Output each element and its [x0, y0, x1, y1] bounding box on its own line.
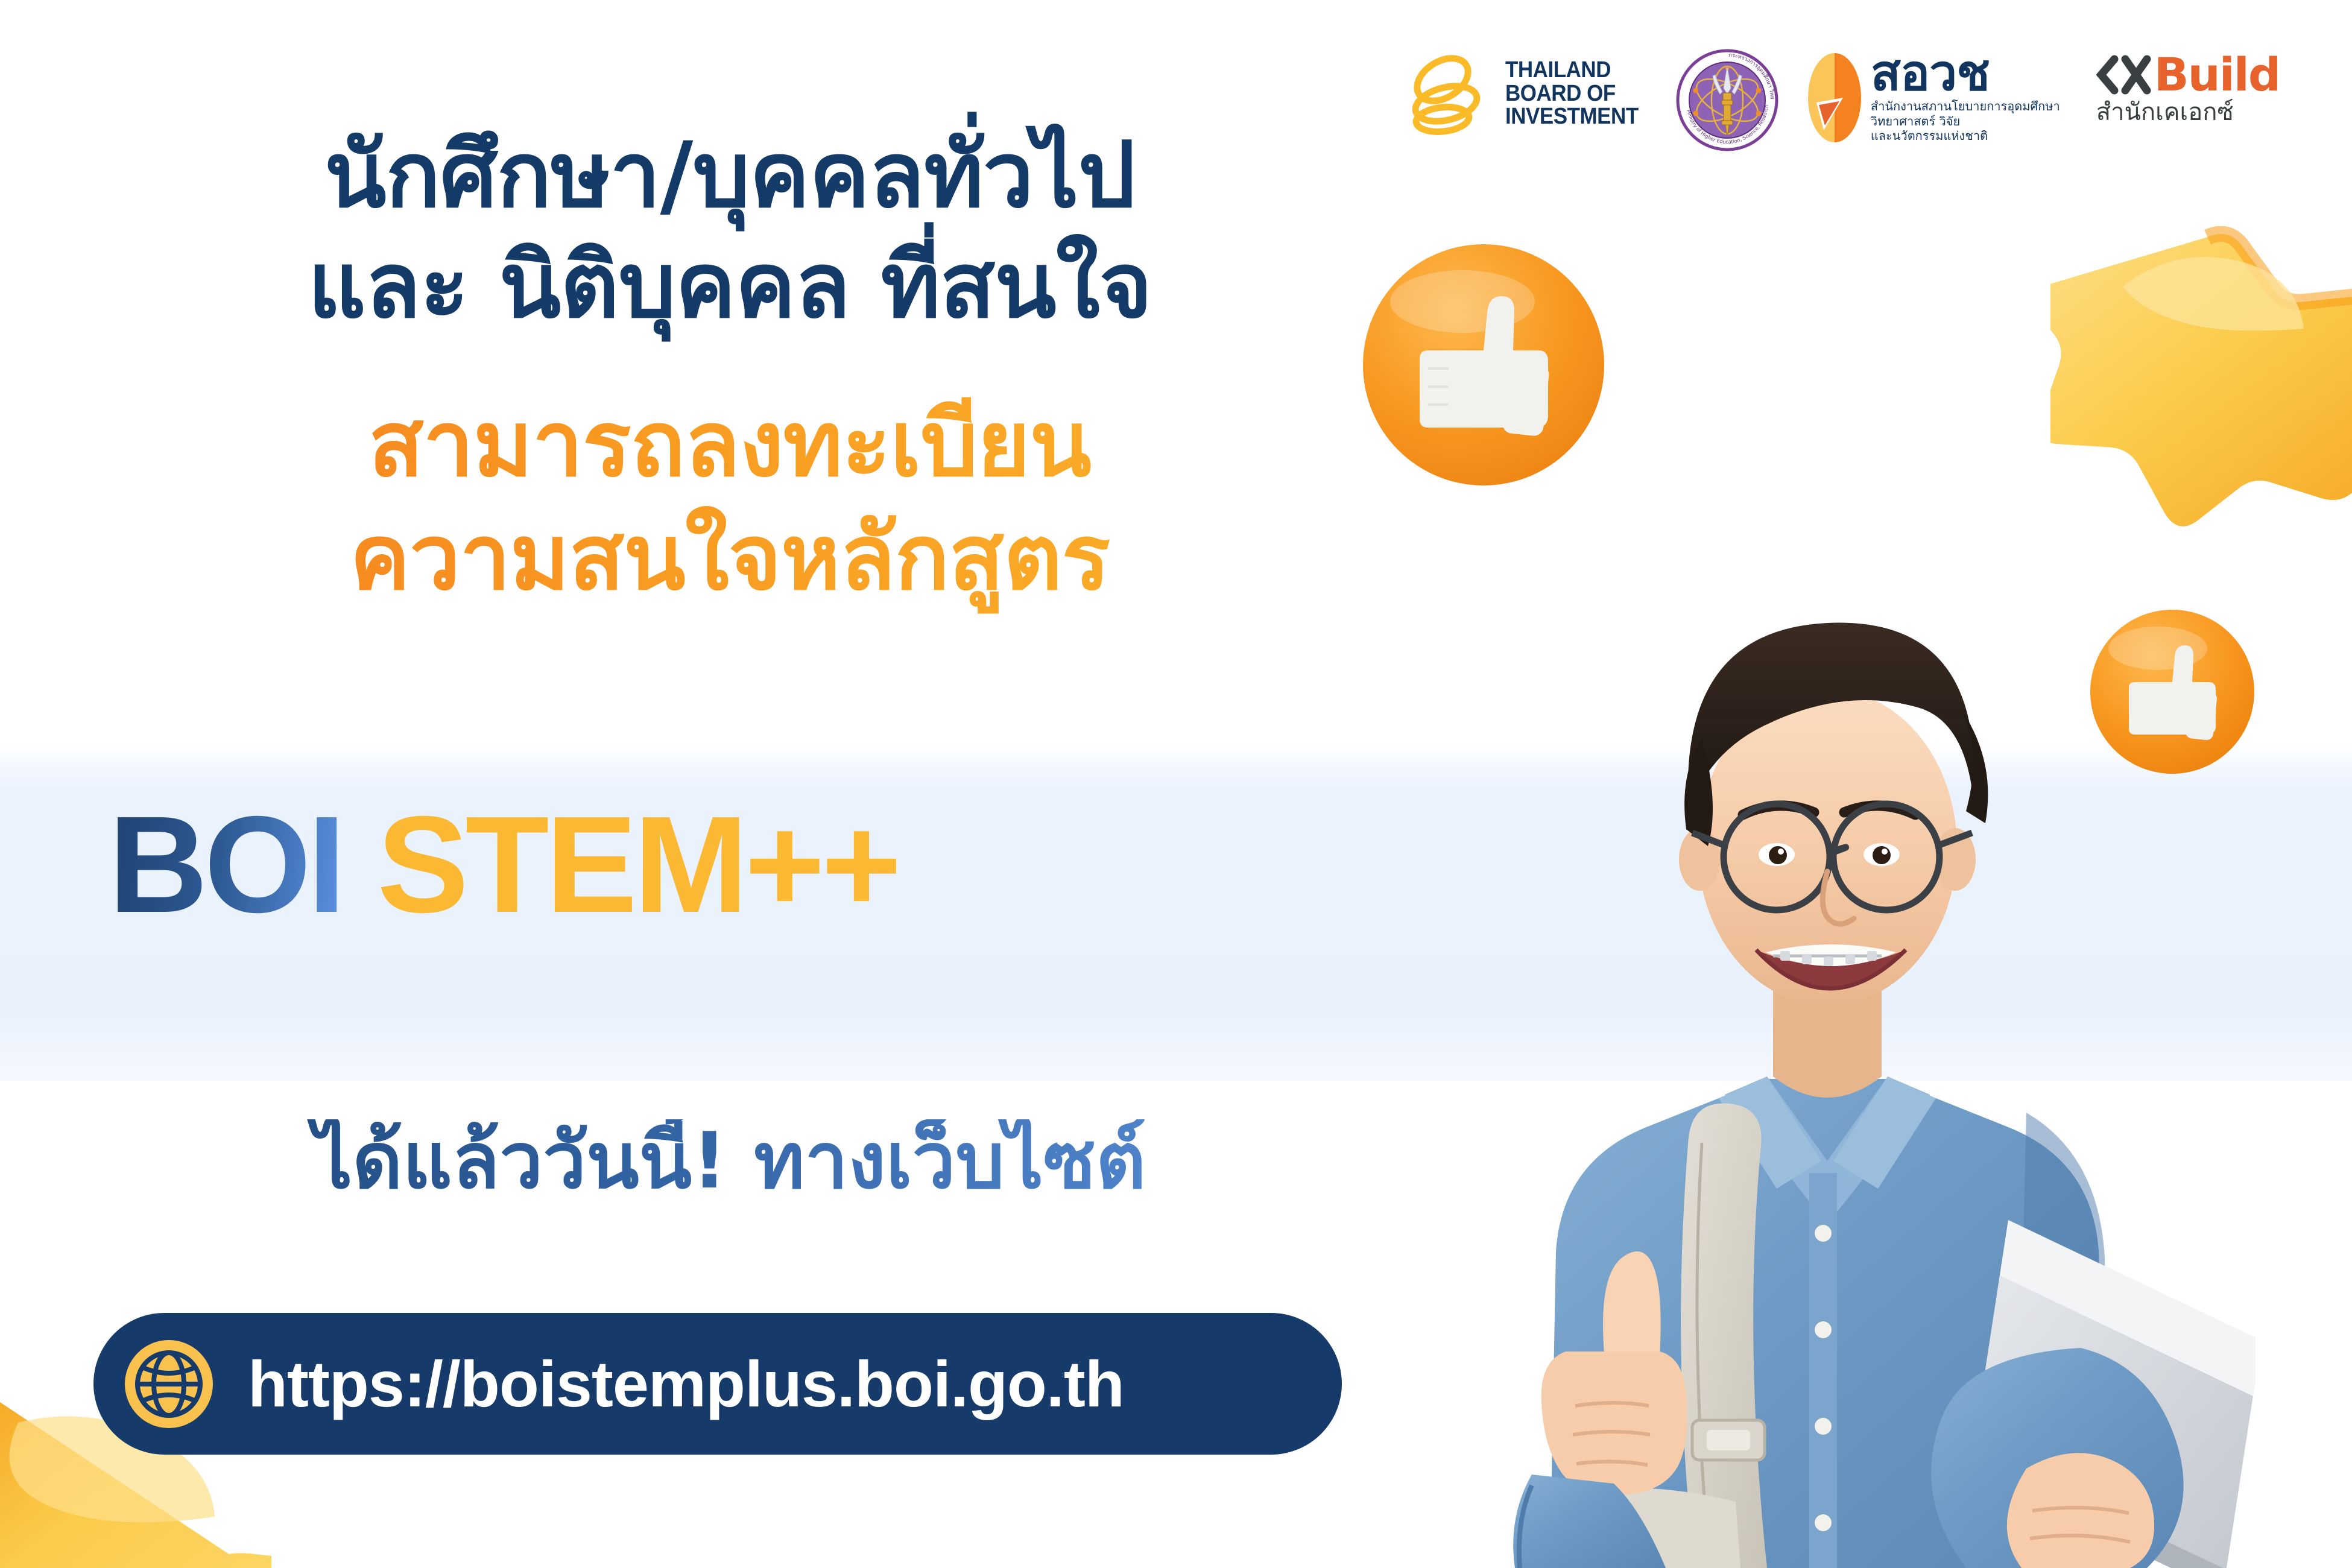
student-photo [1351, 389, 2256, 1568]
logo-mhesi: กระทรวงการอุดมศึกษา วิทยาศาสตร์ วิจัยและ… [1671, 48, 1779, 152]
boi-wordmark-line-2: BOARD OF [1505, 82, 1639, 106]
boi-wordmark-line-1: THAILAND [1505, 58, 1639, 82]
headline-line-4: ความสนใจหลักสูตร [72, 502, 1387, 615]
kx-build-wordmark: Build [2154, 57, 2280, 93]
boi-wordmark: THAILAND BOARD OF INVESTMENT [1505, 58, 1639, 128]
boi-loops-mark [1405, 48, 1496, 139]
nxpo-leaf-mark [1806, 52, 1864, 144]
website-url-text[interactable]: https://boistemplus.boi.go.th [248, 1346, 1124, 1421]
program-wordmark: BOISTEM++ [109, 796, 1435, 934]
nxpo-wordmark: สอวช [1871, 52, 2060, 95]
cta-text: ได้แล้ววันนี้! ทางเว็บไซต์ [72, 1119, 1387, 1204]
wordmark-boi: BOI [109, 796, 342, 934]
logo-strip: THAILAND BOARD OF INVESTMENT [1405, 48, 2322, 181]
wordmark-stem-plus-plus: STEM++ [377, 796, 898, 934]
headline-line-2: และ นิติบุคคล ที่สนใจ [72, 231, 1387, 341]
website-url-bar[interactable]: https://boistemplus.boi.go.th [93, 1313, 1342, 1455]
nxpo-subtitle-line-1: สำนักงานสภานโยบายการอุดมศึกษา [1871, 99, 2060, 113]
logo-thailand-board-of-investment: THAILAND BOARD OF INVESTMENT [1405, 48, 1650, 139]
kx-build-subtitle: สำนักเคเอกซ์ [2096, 100, 2234, 124]
headline-copy: นักศึกษา/บุคคลทั่วไป และ นิติบุคคล ที่สน… [72, 121, 1387, 615]
nxpo-subtitle: สำนักงานสภานโยบายการอุดมศึกษา วิทยาศาสตร… [1871, 99, 2060, 143]
boi-wordmark-line-3: INVESTMENT [1505, 105, 1639, 128]
globe-icon [124, 1339, 214, 1429]
logo-kx-build: Build สำนักเคเอกซ์ [2096, 53, 2280, 124]
headline-line-1: นักศึกษา/บุคคลทั่วไป [72, 121, 1387, 231]
ministry-seal-icon: กระทรวงการอุดมศึกษา วิทยาศาสตร์ วิจัยและ… [1675, 48, 1779, 152]
nxpo-subtitle-line-3: และนวัตกรรมแห่งชาติ [1871, 128, 2060, 143]
headline-line-3: สามารถลงทะเบียน [72, 388, 1387, 502]
nxpo-subtitle-line-2: วิทยาศาสตร์ วิจัย [1871, 114, 2060, 128]
logo-nxpo: สอวช สำนักงานสภานโยบายการอุดมศึกษา วิทยา… [1806, 48, 2060, 144]
promotional-banner: THAILAND BOARD OF INVESTMENT [0, 0, 2352, 1568]
kx-chevron-mark [2096, 53, 2152, 96]
